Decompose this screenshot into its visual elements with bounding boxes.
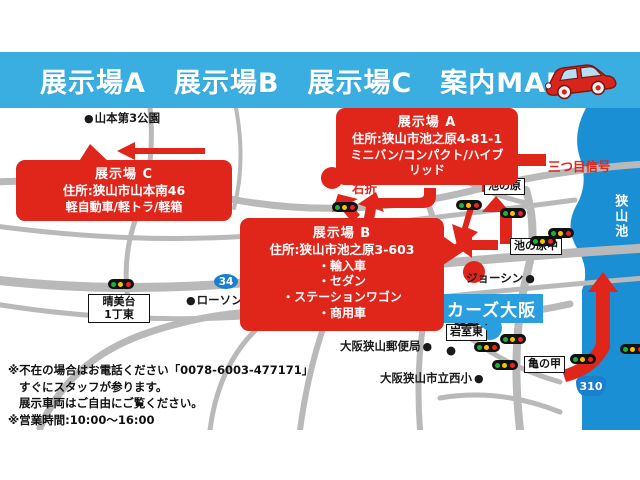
- label-joshin: ジョーシン: [466, 272, 535, 286]
- note-line-3: 展示車両はご自由にご覧ください。: [8, 395, 328, 412]
- traffic-signal-icon: [474, 342, 500, 352]
- footer-notes: ※不在の場合はお電話ください「0078-6003-477171」 すぐにスタッフ…: [8, 362, 328, 429]
- label-post-office: 大阪狭山郵便局: [340, 340, 432, 354]
- intersection-kamenoko: 亀の甲: [524, 356, 565, 373]
- poi-dot: ●: [446, 344, 456, 357]
- traffic-signal-icon: [492, 360, 518, 370]
- annotation-third-signal: 三つ目信号: [548, 156, 611, 175]
- label-lawson: ローソン: [186, 294, 243, 308]
- header-banner: 展示場A 展示場B 展示場C 案内MAP: [0, 52, 640, 108]
- callout-showroom-b: 展示場 B 住所:狭山市池之原3-603 ・輸入車 ・セダン ・ステーションワゴ…: [240, 218, 444, 331]
- showroom-b-item: ・輸入車: [250, 259, 434, 275]
- traffic-signal-icon: [500, 208, 526, 218]
- showroom-b-item: ・セダン: [250, 274, 434, 290]
- callout-c-tail: [70, 144, 112, 164]
- label-sayama-pond: 狭山池: [612, 194, 626, 239]
- showroom-c-title: 展示場 C: [26, 166, 222, 183]
- showroom-c-address: 住所:狭山市山本南46: [26, 183, 222, 200]
- traffic-signal-icon: [456, 200, 482, 210]
- showroom-b-item: ・商用車: [250, 306, 434, 322]
- traffic-signal-icon: [108, 279, 134, 289]
- traffic-signal-icon: [548, 228, 574, 238]
- traffic-signal-icon: [332, 202, 358, 212]
- callout-a-tail: [352, 160, 392, 176]
- map-page: 展示場A 展示場B 展示場C 案内MAP: [0, 0, 640, 480]
- callout-b-tail: [440, 234, 466, 268]
- route-badge-34: 34: [214, 274, 238, 289]
- showroom-a-title: 展示場 A: [346, 114, 508, 131]
- traffic-signal-icon: [620, 344, 640, 354]
- showroom-b-title: 展示場 B: [250, 225, 434, 242]
- callout-showroom-c: 展示場 C 住所:狭山市山本南46 軽自動車/軽トラ/軽箱: [16, 160, 232, 221]
- label-west-elementary-school: 大阪狭山市立西小: [380, 372, 484, 386]
- showroom-b-address: 住所:狭山市池之原3-603: [250, 242, 434, 259]
- note-line-1: ※不在の場合はお電話ください「0078-6003-477171」: [8, 362, 328, 379]
- red-car-icon: [538, 58, 622, 102]
- note-line-2: すぐにスタッフが参ります。: [8, 379, 328, 396]
- page-title: 展示場A 展示場B 展示場C 案内MAP: [40, 61, 567, 100]
- traffic-signal-icon: [570, 354, 596, 364]
- dealer-tag-connector: [462, 308, 506, 338]
- note-line-4: ※営業時間:10:00～16:00: [8, 412, 328, 429]
- showroom-b-item: ・ステーションワゴン: [250, 290, 434, 306]
- showroom-a-address: 住所:狭山市池之原4-81-1: [346, 131, 508, 148]
- intersection-harumidai-1cho-higashi: 晴美台 1丁東: [88, 294, 150, 323]
- showroom-c-types: 軽自動車/軽トラ/軽箱: [26, 200, 222, 216]
- route-badge-310: 310: [576, 376, 606, 396]
- label-yamamoto-park: 山本第3公園: [84, 112, 160, 126]
